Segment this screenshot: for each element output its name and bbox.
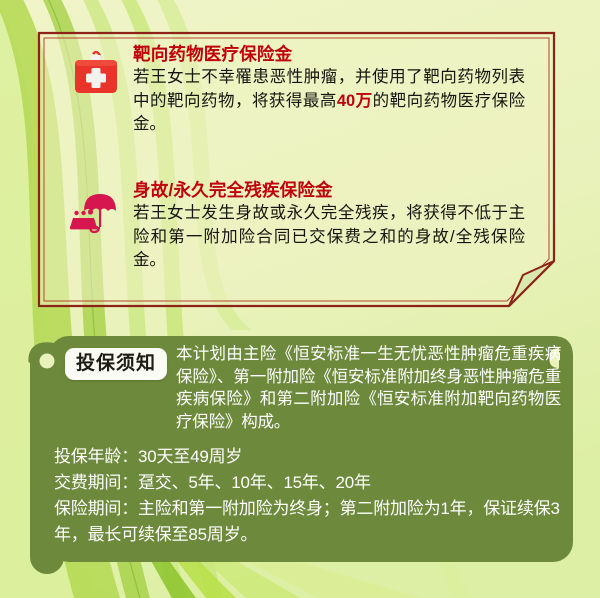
policy-specs-list: 投保年龄：30天至49周岁 交费期间：趸交、5年、10年、15年、20年 保险期… — [54, 444, 566, 548]
spec-row-payment-term: 交费期间：趸交、5年、10年、15年、20年 — [54, 470, 566, 496]
insurance-plan-infographic: 靶向药物医疗保险金 若王女士不幸罹患恶性肿瘤，并使用了靶向药物列表中的靶向药物，… — [0, 0, 600, 598]
benefits-card: 靶向药物医疗保险金 若王女士不幸罹患恶性肿瘤，并使用了靶向药物列表中的靶向药物，… — [37, 31, 556, 308]
benefit-title: 靶向药物医疗保险金 — [133, 43, 525, 65]
spec-row-issue-age: 投保年龄：30天至49周岁 — [54, 444, 566, 470]
benefit-description: 若王女士不幸罹患恶性肿瘤，并使用了靶向药物列表中的靶向药物，将获得最高40万的靶… — [133, 66, 525, 137]
notice-paragraph: 本计划由主险《恒安标准一生无忧恶性肿瘤危重疾病保险》、第一附加险《恒安标准附加终… — [176, 343, 561, 433]
spec-value: 30天至49周岁 — [138, 447, 242, 466]
spec-label: 交费期间： — [54, 473, 138, 492]
notice-label-badge: 投保须知 — [65, 348, 167, 380]
spec-label: 投保年龄： — [54, 447, 138, 466]
spec-row-coverage-term: 保险期间：主险和第一附加险为终身；第二附加险为1年，保证续保3年，最长可续保至8… — [54, 496, 566, 548]
benefit-item-targeted-drug: 靶向药物医疗保险金 若王女士不幸罹患恶性肿瘤，并使用了靶向药物列表中的靶向药物，… — [59, 43, 525, 137]
policy-notice-card: 投保须知 本计划由主险《恒安标准一生无忧恶性肿瘤危重疾病保险》、第一附加险《恒安… — [23, 330, 577, 562]
spec-value: 趸交、5年、10年、15年、20年 — [138, 473, 371, 492]
benefit-amount-highlight: 40万 — [337, 92, 373, 110]
spec-label: 保险期间： — [54, 499, 138, 518]
benefit-description: 若王女士发生身故或永久完全残疾，将获得不低于主险和第一附加险合同已交保费之和的身… — [133, 202, 525, 273]
umbrella-family-icon — [59, 179, 133, 235]
benefit-item-death-disability: 身故/永久完全残疾保险金 若王女士发生身故或永久完全残疾，将获得不低于主险和第一… — [59, 179, 525, 273]
benefit-title: 身故/永久完全残疾保险金 — [133, 179, 525, 201]
first-aid-kit-icon — [59, 43, 133, 99]
